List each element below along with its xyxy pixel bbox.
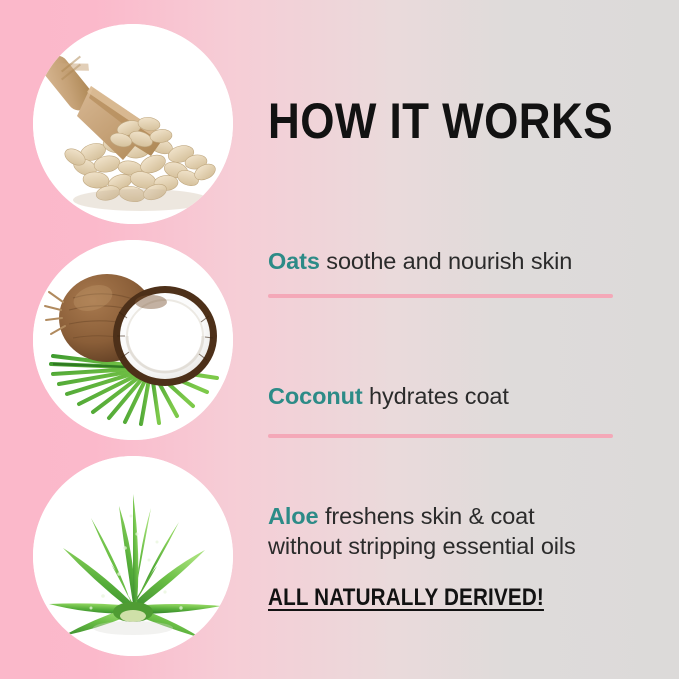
benefit-coconut-text-1: hydrates coat	[369, 383, 509, 409]
coconut-photo	[33, 240, 233, 440]
divider-2	[268, 434, 613, 438]
divider-1	[268, 294, 613, 298]
benefit-coconut-keyword: Coconut	[268, 383, 363, 409]
benefit-aloe-line-1: Aloe freshens skin & coat	[268, 501, 658, 531]
coconut-photo-circle	[33, 240, 233, 440]
benefit-coconut-line-1: Coconut hydrates coat	[268, 381, 658, 411]
benefit-aloe: Aloe freshens skin & coat without stripp…	[268, 501, 658, 561]
benefit-oats-keyword: Oats	[268, 248, 320, 274]
natural-claim-footnote: ALL NATURALLY DERIVED!	[268, 585, 544, 611]
benefit-coconut: Coconut hydrates coat	[268, 381, 658, 411]
text-column: HOW IT WORKS Oats soothe and nourish ski…	[268, 0, 658, 679]
benefit-aloe-text-1: freshens skin & coat	[325, 503, 535, 529]
benefit-aloe-line-2: without stripping essential oils	[268, 531, 658, 561]
aloe-photo-circle	[33, 456, 233, 656]
benefit-oats-text-1: soothe and nourish skin	[326, 248, 572, 274]
benefit-oats: Oats soothe and nourish skin	[268, 246, 658, 276]
how-it-works-infographic: HOW IT WORKS Oats soothe and nourish ski…	[0, 0, 679, 679]
page-title: HOW IT WORKS	[268, 96, 613, 146]
benefit-oats-line-1: Oats soothe and nourish skin	[268, 246, 658, 276]
oats-scoop-photo	[33, 24, 233, 224]
oats-photo-circle	[33, 24, 233, 224]
benefit-aloe-keyword: Aloe	[268, 503, 319, 529]
aloe-vera-photo	[33, 456, 233, 656]
ingredient-photo-column	[33, 24, 233, 656]
